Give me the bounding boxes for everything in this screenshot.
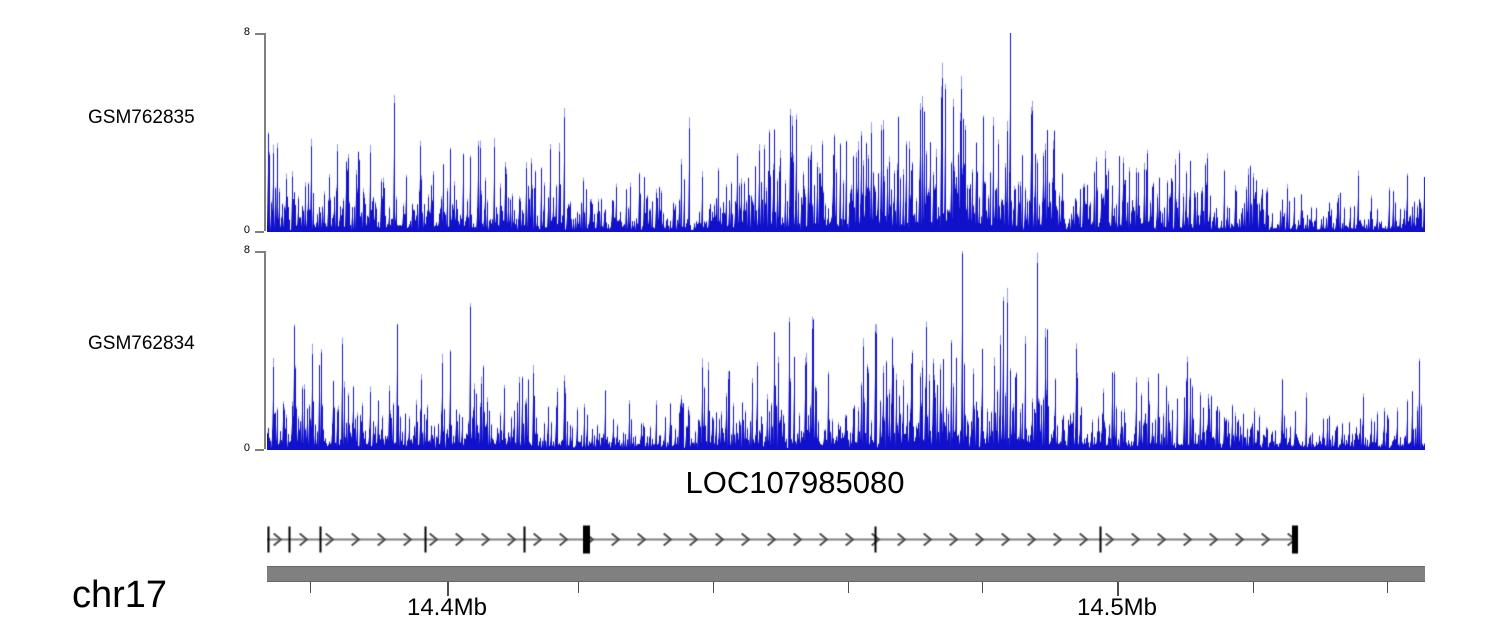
ruler-tick-minor bbox=[848, 582, 849, 593]
y-axis-top-cap bbox=[255, 33, 264, 35]
y-axis-min-label: 0 bbox=[228, 443, 250, 454]
ruler-tick-minor bbox=[1253, 582, 1254, 593]
y-axis-top-cap bbox=[255, 251, 264, 253]
coverage-plot-GSM762834[interactable] bbox=[267, 251, 1425, 450]
ruler-position-label: 14.5Mb bbox=[1077, 596, 1157, 620]
y-axis-GSM762834 bbox=[264, 251, 266, 449]
coverage-plot-GSM762835[interactable] bbox=[267, 33, 1425, 232]
gene-model-track[interactable] bbox=[267, 521, 1304, 557]
track-label-GSM762835: GSM762835 bbox=[88, 108, 195, 127]
y-axis-GSM762835 bbox=[264, 33, 266, 231]
coverage-canvas-GSM762834 bbox=[267, 251, 1425, 450]
y-axis-bottom-cap bbox=[255, 231, 264, 233]
chromosome-ideogram-bar[interactable] bbox=[267, 566, 1425, 582]
ruler-tick-minor bbox=[982, 582, 983, 593]
y-axis-max-label: 8 bbox=[228, 27, 250, 38]
chromosome-label: chr17 bbox=[72, 576, 167, 614]
ruler-tick-minor bbox=[713, 582, 714, 593]
genome-browser-view: GSM762835 8 0 GSM762834 8 0 LOC107985080… bbox=[0, 0, 1500, 640]
y-axis-min-label: 0 bbox=[228, 225, 250, 236]
y-axis-bottom-cap bbox=[255, 449, 264, 451]
y-axis-max-label: 8 bbox=[228, 245, 250, 256]
track-label-GSM762834: GSM762834 bbox=[88, 334, 195, 353]
ruler-tick-minor bbox=[1387, 582, 1388, 593]
gene-name-label[interactable]: LOC107985080 bbox=[686, 467, 905, 498]
gene-model-canvas bbox=[267, 521, 1304, 557]
ruler-tick-minor bbox=[310, 582, 311, 593]
coverage-canvas-GSM762835 bbox=[267, 33, 1425, 232]
ruler-tick-minor bbox=[578, 582, 579, 593]
ruler-position-label: 14.4Mb bbox=[407, 596, 487, 620]
